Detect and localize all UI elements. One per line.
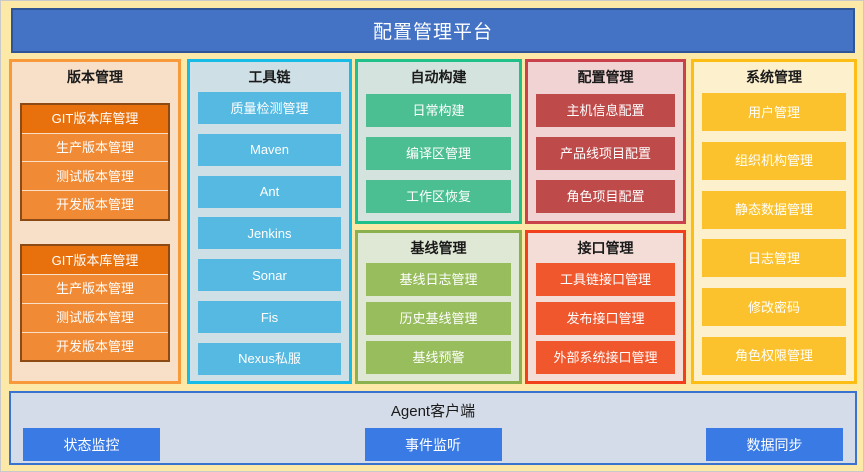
item-dev-version-management-1[interactable]: 开发版本管理 — [22, 191, 168, 219]
item-git-repo-management-1[interactable]: GIT版本库管理 — [22, 105, 168, 134]
item-external-system-interface-management[interactable]: 外部系统接口管理 — [536, 341, 675, 374]
page-title: 配置管理平台 — [11, 8, 855, 53]
panel-title-version-management: 版本管理 — [12, 62, 178, 91]
item-organization-management[interactable]: 组织机构管理 — [702, 142, 846, 180]
item-dev-version-management-2[interactable]: 开发版本管理 — [22, 333, 168, 361]
item-jenkins[interactable]: Jenkins — [198, 217, 341, 249]
panel-title-system-management: 系统管理 — [694, 62, 854, 91]
architecture-diagram: 配置管理平台 版本管理 GIT版本库管理 生产版本管理 测试版本管理 开发版本管… — [0, 0, 864, 472]
item-log-management[interactable]: 日志管理 — [702, 239, 846, 277]
item-nexus-private-repo[interactable]: Nexus私服 — [198, 343, 341, 375]
item-production-version-management-1[interactable]: 生产版本管理 — [22, 134, 168, 163]
item-host-info-config[interactable]: 主机信息配置 — [536, 94, 675, 127]
column-version-management: 版本管理 GIT版本库管理 生产版本管理 测试版本管理 开发版本管理 GIT版本… — [9, 59, 181, 384]
item-change-password[interactable]: 修改密码 — [702, 288, 846, 326]
panel-body-baseline-management: 基线日志管理 历史基线管理 基线预警 — [358, 262, 519, 381]
item-baseline-log-management[interactable]: 基线日志管理 — [366, 263, 511, 296]
item-workspace-recovery[interactable]: 工作区恢复 — [366, 180, 511, 213]
item-fis[interactable]: Fis — [198, 301, 341, 333]
panel-title-auto-build: 自动构建 — [358, 62, 519, 91]
panel-title-interface-management: 接口管理 — [528, 233, 683, 262]
version-group-2: GIT版本库管理 生产版本管理 测试版本管理 开发版本管理 — [20, 244, 170, 362]
item-baseline-alert[interactable]: 基线预警 — [366, 341, 511, 374]
item-git-repo-management-2[interactable]: GIT版本库管理 — [22, 246, 168, 275]
column-config-interface: 配置管理 主机信息配置 产品线项目配置 角色项目配置 接口管理 工具链接口管理 … — [525, 59, 686, 384]
panel-body-version-management: GIT版本库管理 生产版本管理 测试版本管理 开发版本管理 GIT版本库管理 生… — [12, 91, 178, 381]
panel-title-baseline-management: 基线管理 — [358, 233, 519, 262]
page-title-label: 配置管理平台 — [373, 17, 493, 44]
item-ant[interactable]: Ant — [198, 176, 341, 208]
column-build-baseline: 自动构建 日常构建 编译区管理 工作区恢复 基线管理 基线日志管理 历史基线管理… — [355, 59, 522, 384]
panel-body-system-management: 用户管理 组织机构管理 静态数据管理 日志管理 修改密码 角色权限管理 — [694, 91, 854, 381]
panel-config-management: 配置管理 主机信息配置 产品线项目配置 角色项目配置 — [525, 59, 686, 224]
item-toolchain-interface-management[interactable]: 工具链接口管理 — [536, 263, 675, 296]
item-daily-build[interactable]: 日常构建 — [366, 94, 511, 127]
item-role-project-config[interactable]: 角色项目配置 — [536, 180, 675, 213]
panel-title-toolchain: 工具链 — [190, 62, 349, 91]
column-toolchain: 工具链 质量检测管理 Maven Ant Jenkins Sonar Fis N… — [187, 59, 352, 384]
panel-system-management: 系统管理 用户管理 组织机构管理 静态数据管理 日志管理 修改密码 角色权限管理 — [691, 59, 857, 384]
item-test-version-management-1[interactable]: 测试版本管理 — [22, 162, 168, 191]
panel-body-auto-build: 日常构建 编译区管理 工作区恢复 — [358, 91, 519, 221]
panel-toolchain: 工具链 质量检测管理 Maven Ant Jenkins Sonar Fis N… — [187, 59, 352, 384]
panel-body-interface-management: 工具链接口管理 发布接口管理 外部系统接口管理 — [528, 262, 683, 381]
item-historical-baseline-management[interactable]: 历史基线管理 — [366, 302, 511, 335]
item-status-monitoring[interactable]: 状态监控 — [23, 428, 160, 461]
item-static-data-management[interactable]: 静态数据管理 — [702, 191, 846, 229]
item-user-management[interactable]: 用户管理 — [702, 93, 846, 131]
panel-body-toolchain: 质量检测管理 Maven Ant Jenkins Sonar Fis Nexus… — [190, 91, 349, 381]
item-data-sync[interactable]: 数据同步 — [706, 428, 843, 461]
panel-title-config-management: 配置管理 — [528, 62, 683, 91]
panel-body-config-management: 主机信息配置 产品线项目配置 角色项目配置 — [528, 91, 683, 221]
item-quality-inspection-management[interactable]: 质量检测管理 — [198, 92, 341, 124]
panel-title-agent-client: Agent客户端 — [11, 393, 855, 421]
item-test-version-management-2[interactable]: 测试版本管理 — [22, 304, 168, 333]
agent-client-items: 状态监控 事件监听 数据同步 — [11, 421, 855, 461]
column-system-management: 系统管理 用户管理 组织机构管理 静态数据管理 日志管理 修改密码 角色权限管理 — [691, 59, 857, 384]
panel-baseline-management: 基线管理 基线日志管理 历史基线管理 基线预警 — [355, 230, 522, 384]
item-compile-area-management[interactable]: 编译区管理 — [366, 137, 511, 170]
item-production-version-management-2[interactable]: 生产版本管理 — [22, 275, 168, 304]
panel-interface-management: 接口管理 工具链接口管理 发布接口管理 外部系统接口管理 — [525, 230, 686, 384]
panel-agent-client: Agent客户端 状态监控 事件监听 数据同步 — [9, 391, 857, 465]
item-release-interface-management[interactable]: 发布接口管理 — [536, 302, 675, 335]
panel-version-management: 版本管理 GIT版本库管理 生产版本管理 测试版本管理 开发版本管理 GIT版本… — [9, 59, 181, 384]
item-maven[interactable]: Maven — [198, 134, 341, 166]
item-event-listening[interactable]: 事件监听 — [365, 428, 502, 461]
item-role-permission-management[interactable]: 角色权限管理 — [702, 337, 846, 375]
item-product-line-project-config[interactable]: 产品线项目配置 — [536, 137, 675, 170]
version-group-1: GIT版本库管理 生产版本管理 测试版本管理 开发版本管理 — [20, 103, 170, 221]
panel-auto-build: 自动构建 日常构建 编译区管理 工作区恢复 — [355, 59, 522, 224]
item-sonar[interactable]: Sonar — [198, 259, 341, 291]
